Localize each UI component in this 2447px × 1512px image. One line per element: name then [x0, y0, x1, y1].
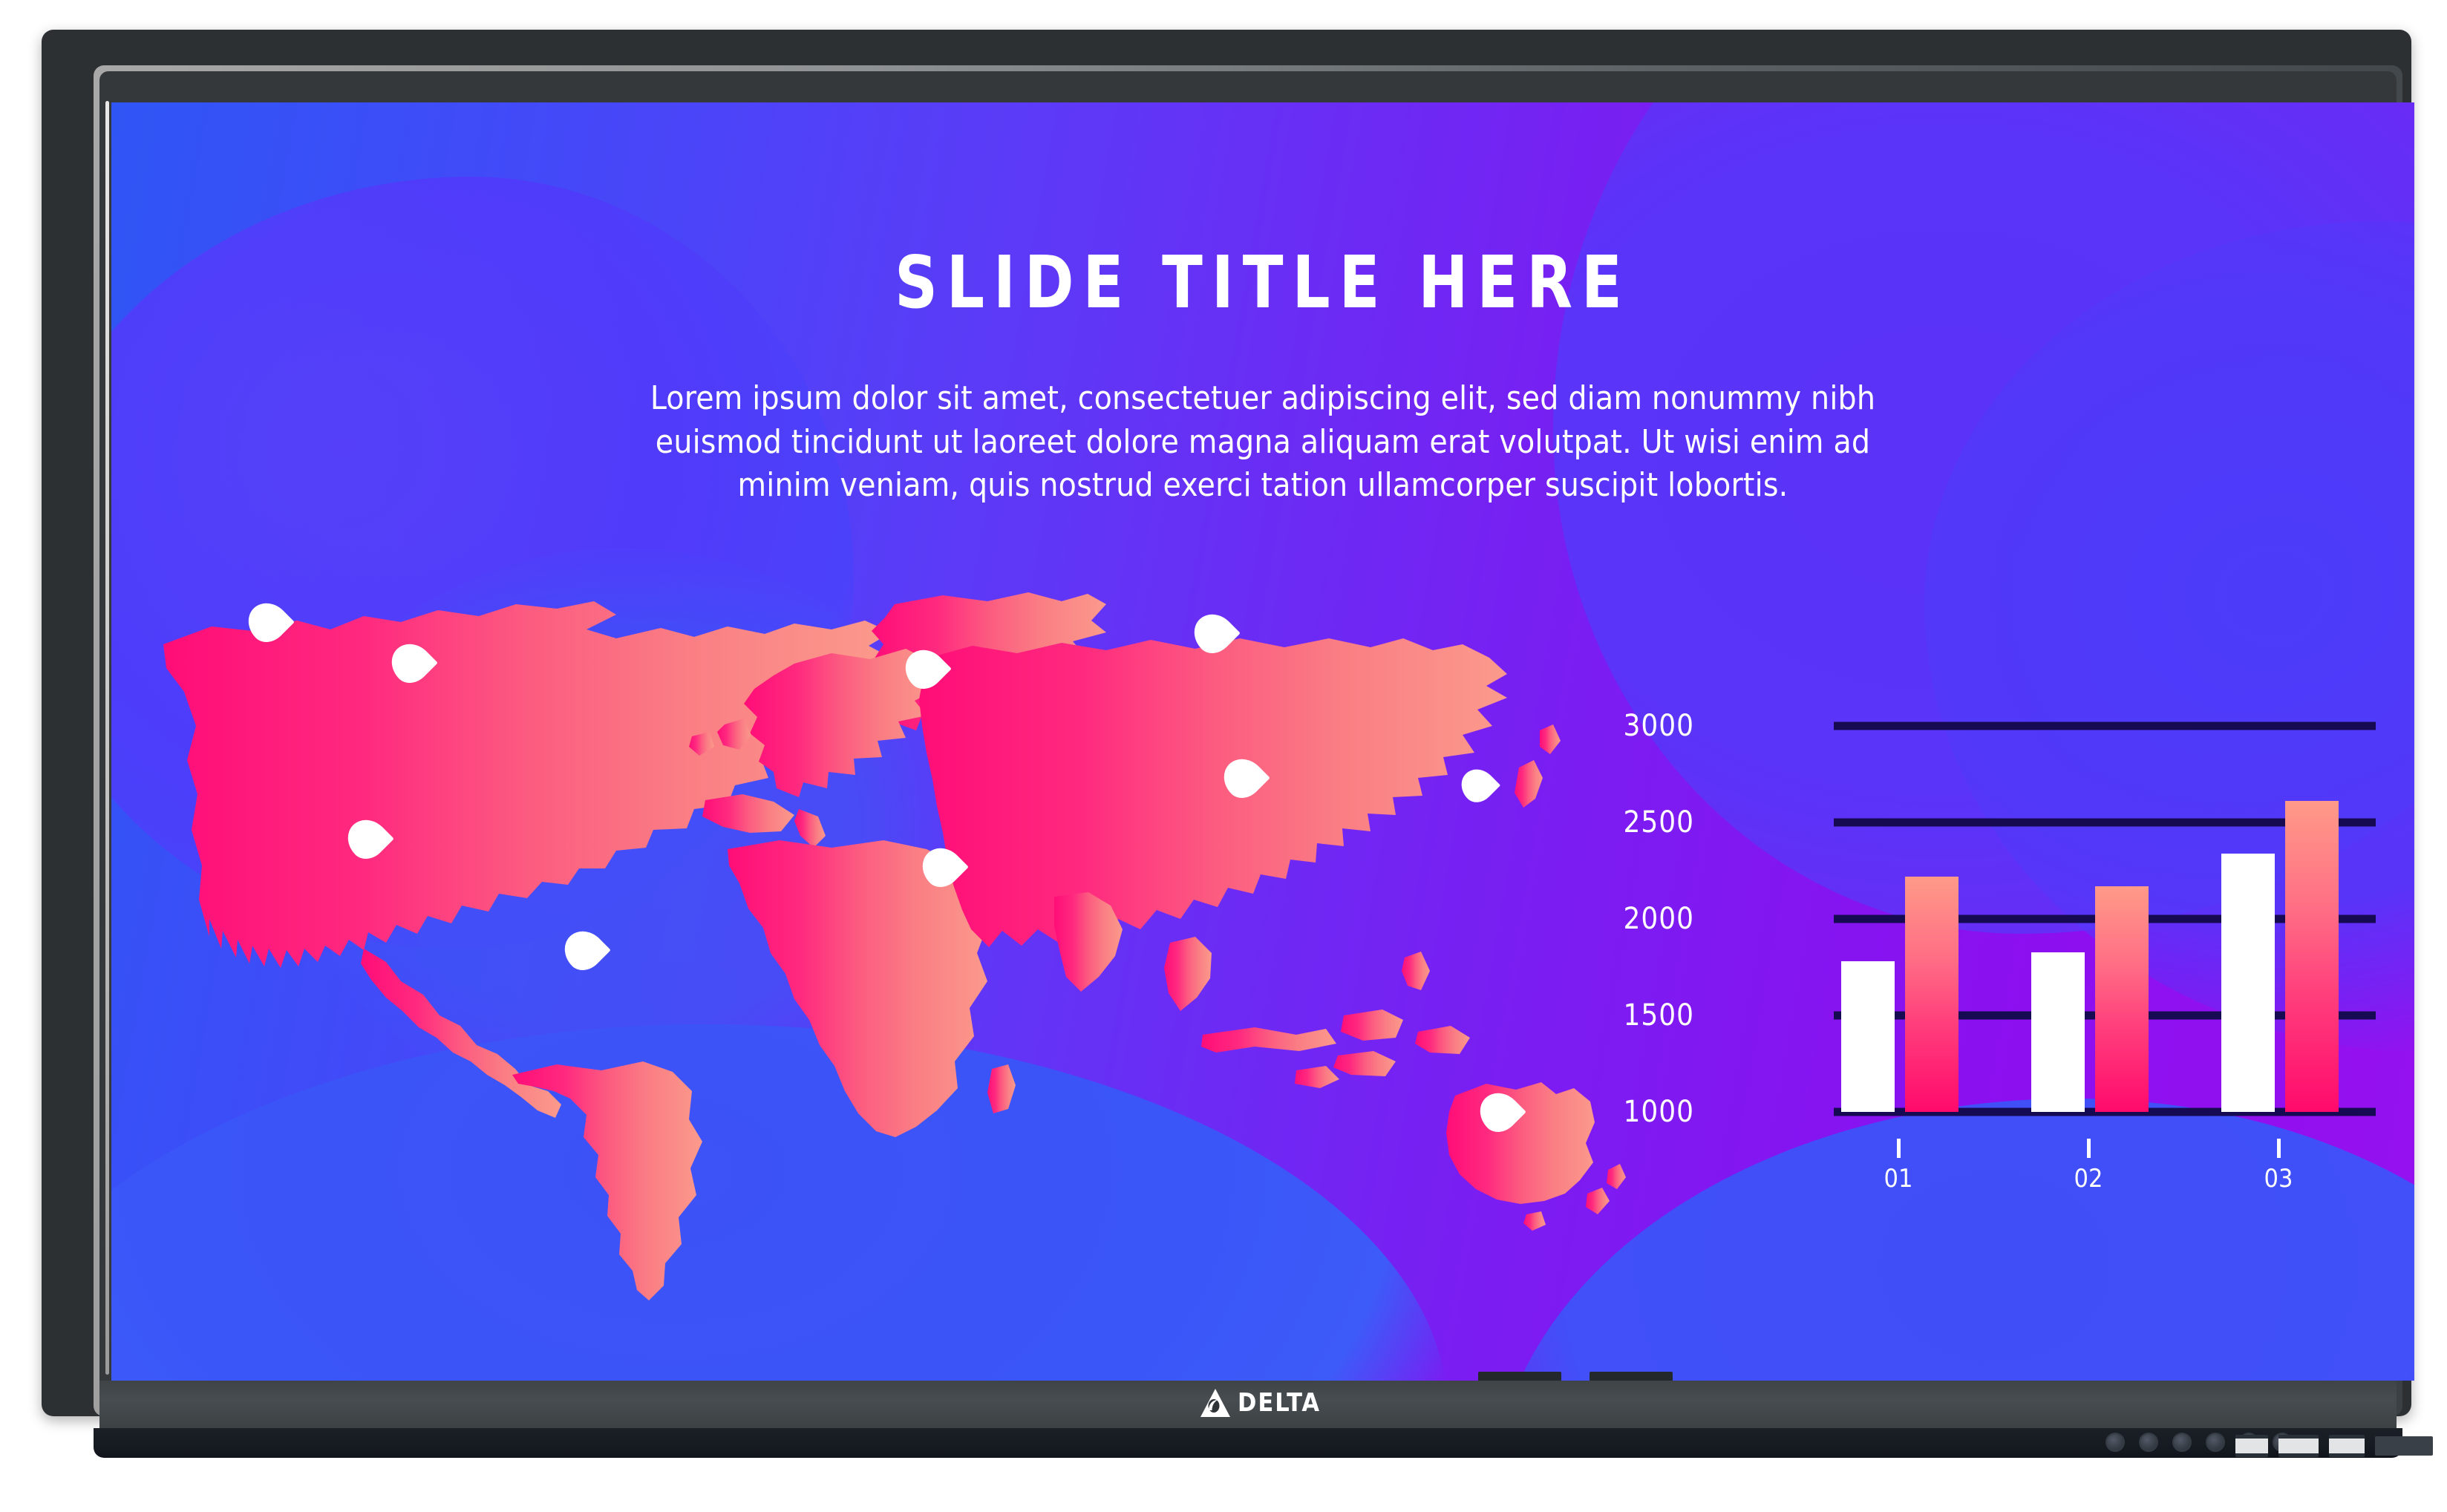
world-map: [141, 533, 1641, 1305]
delta-triangle-logo-icon: [1200, 1388, 1231, 1418]
ir-sensor-panel: [2375, 1436, 2433, 1456]
port-cluster[interactable]: [2235, 1435, 2433, 1457]
input-source-icon[interactable]: [2172, 1433, 2192, 1452]
bar-chart: 3000 2500 2000 1500 1000 01 02 0: [1663, 726, 2376, 1201]
x-label-01: 01: [1865, 1164, 1932, 1194]
map-landmasses: [163, 592, 1626, 1300]
y-tick-2500: 2500: [1546, 805, 1694, 840]
hdmi-port[interactable]: [2278, 1435, 2319, 1457]
x-label-03: 03: [2245, 1164, 2312, 1194]
y-tick-3000: 3000: [1546, 709, 1694, 743]
usb-port-2[interactable]: [2329, 1435, 2365, 1457]
home-icon[interactable]: [2139, 1433, 2158, 1452]
screen[interactable]: SLIDE TITLE HERE Lorem ipsum dolor sit a…: [111, 102, 2414, 1381]
usb-port[interactable]: [2235, 1435, 2268, 1457]
bezel-edge-highlight: [105, 101, 109, 1375]
slide-title: SLIDE TITLE HERE: [203, 240, 2322, 324]
power-icon[interactable]: [2105, 1433, 2125, 1452]
bezel-base-strip: [94, 1428, 2402, 1458]
bar-01-white: [1841, 961, 1895, 1112]
y-tick-1500: 1500: [1546, 998, 1694, 1032]
slide-body-text: Lorem ipsum dolor sit amet, consectetuer…: [624, 377, 1901, 508]
x-tick-02: [2087, 1139, 2091, 1158]
y-tick-1000: 1000: [1546, 1095, 1694, 1129]
x-label-02: 02: [2055, 1164, 2122, 1194]
brand-logo: DELTA: [1200, 1388, 1321, 1418]
bar-01-pink: [1905, 877, 1958, 1112]
bar-02-white: [2031, 952, 2085, 1112]
display-device: SLIDE TITLE HERE Lorem ipsum dolor sit a…: [42, 30, 2411, 1416]
x-tick-01: [1897, 1139, 1901, 1158]
bar-03-white: [2221, 854, 2275, 1112]
x-tick-03: [2277, 1139, 2281, 1158]
bar-03-pink: [2285, 801, 2339, 1112]
settings-icon[interactable]: [2206, 1433, 2225, 1452]
bar-02-pink: [2095, 886, 2149, 1112]
brand-name: DELTA: [1238, 1388, 1321, 1418]
y-tick-2000: 2000: [1546, 902, 1694, 936]
